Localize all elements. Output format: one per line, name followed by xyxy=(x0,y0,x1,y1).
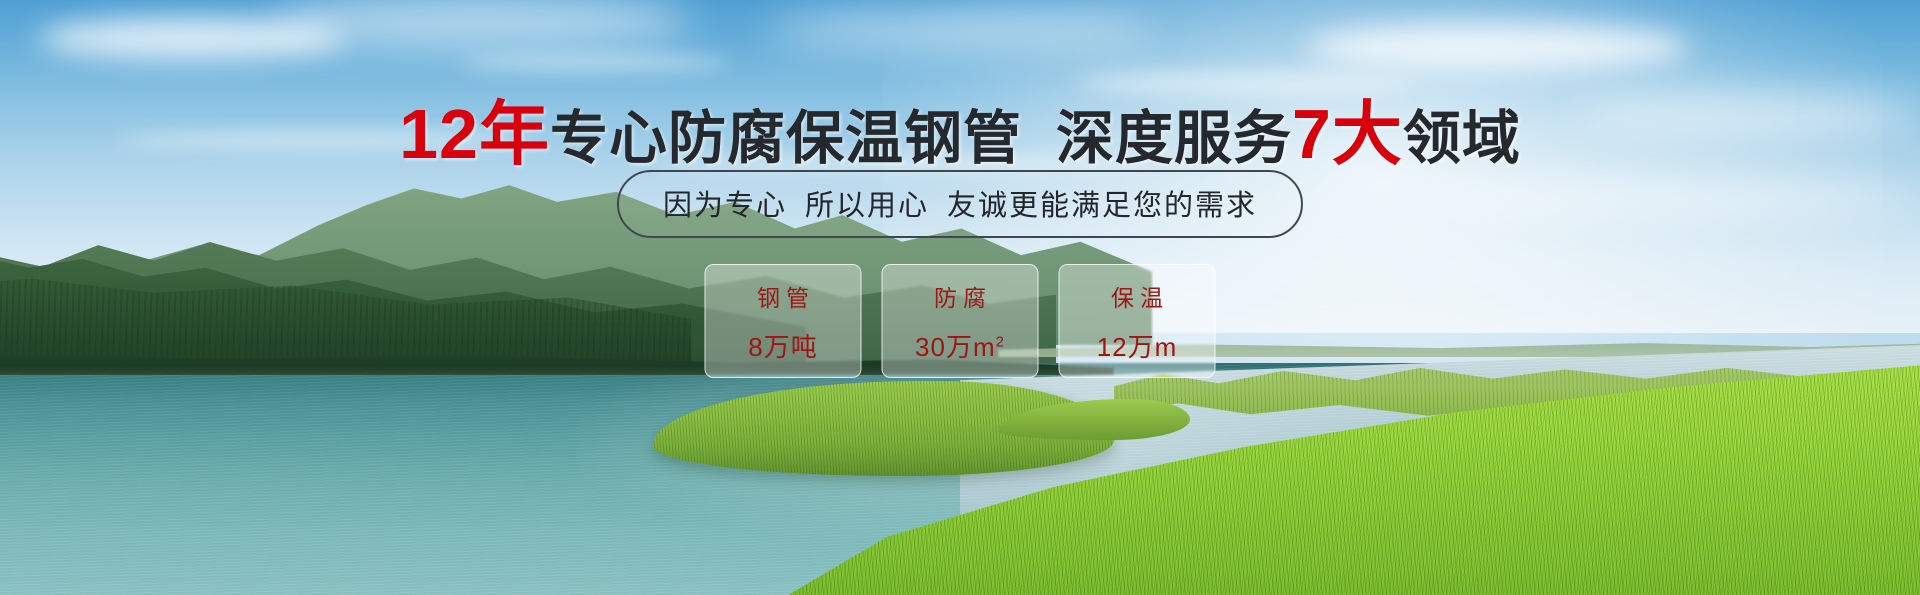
headline-main-first: 专心防腐保温钢管 xyxy=(550,106,1022,171)
headline-accent-fields: 7 xyxy=(1292,95,1332,173)
headline-accent-fields-unit: 大 xyxy=(1332,95,1403,173)
stat-card-label: 钢管 xyxy=(751,279,815,313)
stat-card-group: 钢管 8万吨 防腐 30万m2 保温 12万m xyxy=(705,264,1216,378)
stat-card-anticorrosion: 防腐 30万m2 xyxy=(882,264,1039,378)
headline-accent-years-unit: 年 xyxy=(479,95,550,173)
stat-card-value-text: 30万m xyxy=(915,332,996,362)
stat-card-value-text: 12万m xyxy=(1097,332,1178,362)
banner-content: 12年专心防腐保温钢管深度服务7大领域 因为专心所以用心友诚更能满足您的需求 钢… xyxy=(0,0,1920,595)
stat-card-value-text: 8万吨 xyxy=(748,332,817,362)
subtitle-part-1: 因为专心 xyxy=(663,190,787,222)
stat-card-label: 保温 xyxy=(1105,279,1169,313)
headline-main-third: 领域 xyxy=(1403,106,1521,171)
hero-banner: 12年专心防腐保温钢管深度服务7大领域 因为专心所以用心友诚更能满足您的需求 钢… xyxy=(0,0,1920,595)
stat-card-value: 12万m xyxy=(1097,327,1178,364)
banner-subtitle-pill: 因为专心所以用心友诚更能满足您的需求 xyxy=(617,170,1303,238)
stat-card-steel-pipe: 钢管 8万吨 xyxy=(705,264,862,378)
stat-card-value-superscript: 2 xyxy=(996,333,1005,350)
banner-headline: 12年专心防腐保温钢管深度服务7大领域 xyxy=(0,78,1920,179)
stat-card-insulation: 保温 12万m xyxy=(1059,264,1216,378)
stat-card-value: 8万吨 xyxy=(748,327,817,364)
stat-card-value: 30万m2 xyxy=(915,327,1005,364)
subtitle-part-3: 友诚更能满足您的需求 xyxy=(947,190,1257,222)
headline-main-second: 深度服务 xyxy=(1056,106,1292,171)
subtitle-part-2: 所以用心 xyxy=(805,190,929,222)
headline-accent-years: 12 xyxy=(399,95,479,173)
stat-card-label: 防腐 xyxy=(928,279,992,313)
